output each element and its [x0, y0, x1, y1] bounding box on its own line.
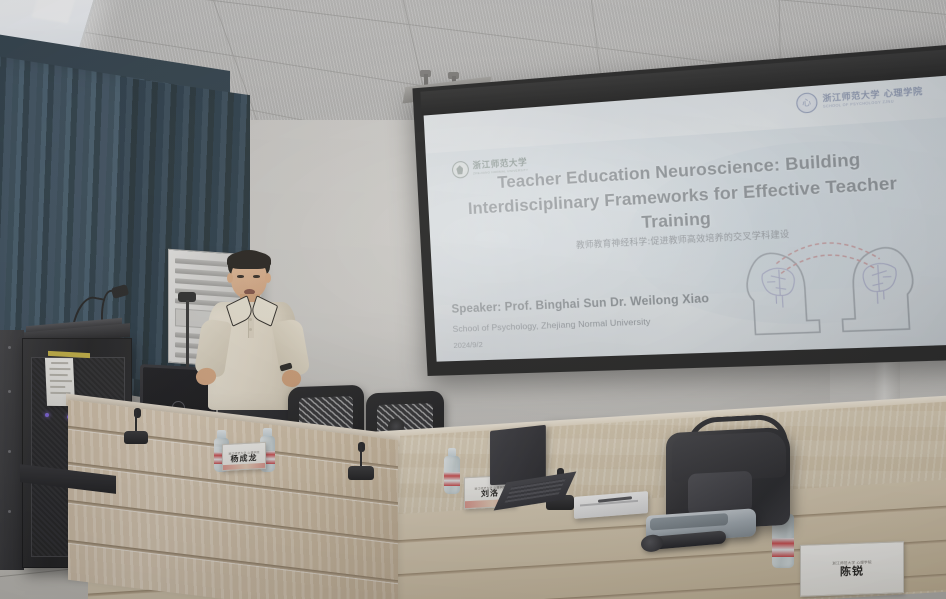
gooseneck-microphone[interactable] [124, 410, 148, 444]
psychology-school-seal-icon: 浙江师范大学 心理学院 SCHOOL OF PSYCHOLOGY ZJNU [795, 84, 923, 114]
rack-side-panel [0, 330, 24, 570]
water-bottle[interactable] [444, 448, 460, 494]
presentation-slide: 浙江师范大学 ZHEJIANG NORMAL UNIVERSITY 浙江师范大学… [424, 75, 946, 361]
gooseneck-microphone[interactable] [348, 444, 374, 480]
projection-screen: 浙江师范大学 ZHEJIANG NORMAL UNIVERSITY 浙江师范大学… [412, 44, 946, 376]
two-heads-brains-connected-icon [737, 220, 923, 346]
placard-name: 杨成龙 [231, 454, 258, 463]
open-laptop-screen[interactable] [490, 425, 546, 485]
placard-name: 陈锐 [840, 566, 864, 578]
slide-date: 2024/9/2 [453, 340, 483, 350]
placard-name: 刘洛 [481, 490, 499, 499]
name-placard: 浙江师范大学 心理学院 杨成龙 [222, 442, 266, 471]
name-placard: 浙江师范大学 心理学院 陈锐 [800, 541, 904, 597]
slide-affiliation: School of Psychology, Zhejiang Normal Un… [452, 311, 786, 334]
lecture-room-photo: 浙江师范大学 ZHEJIANG NORMAL UNIVERSITY 浙江师范大学… [0, 0, 946, 599]
